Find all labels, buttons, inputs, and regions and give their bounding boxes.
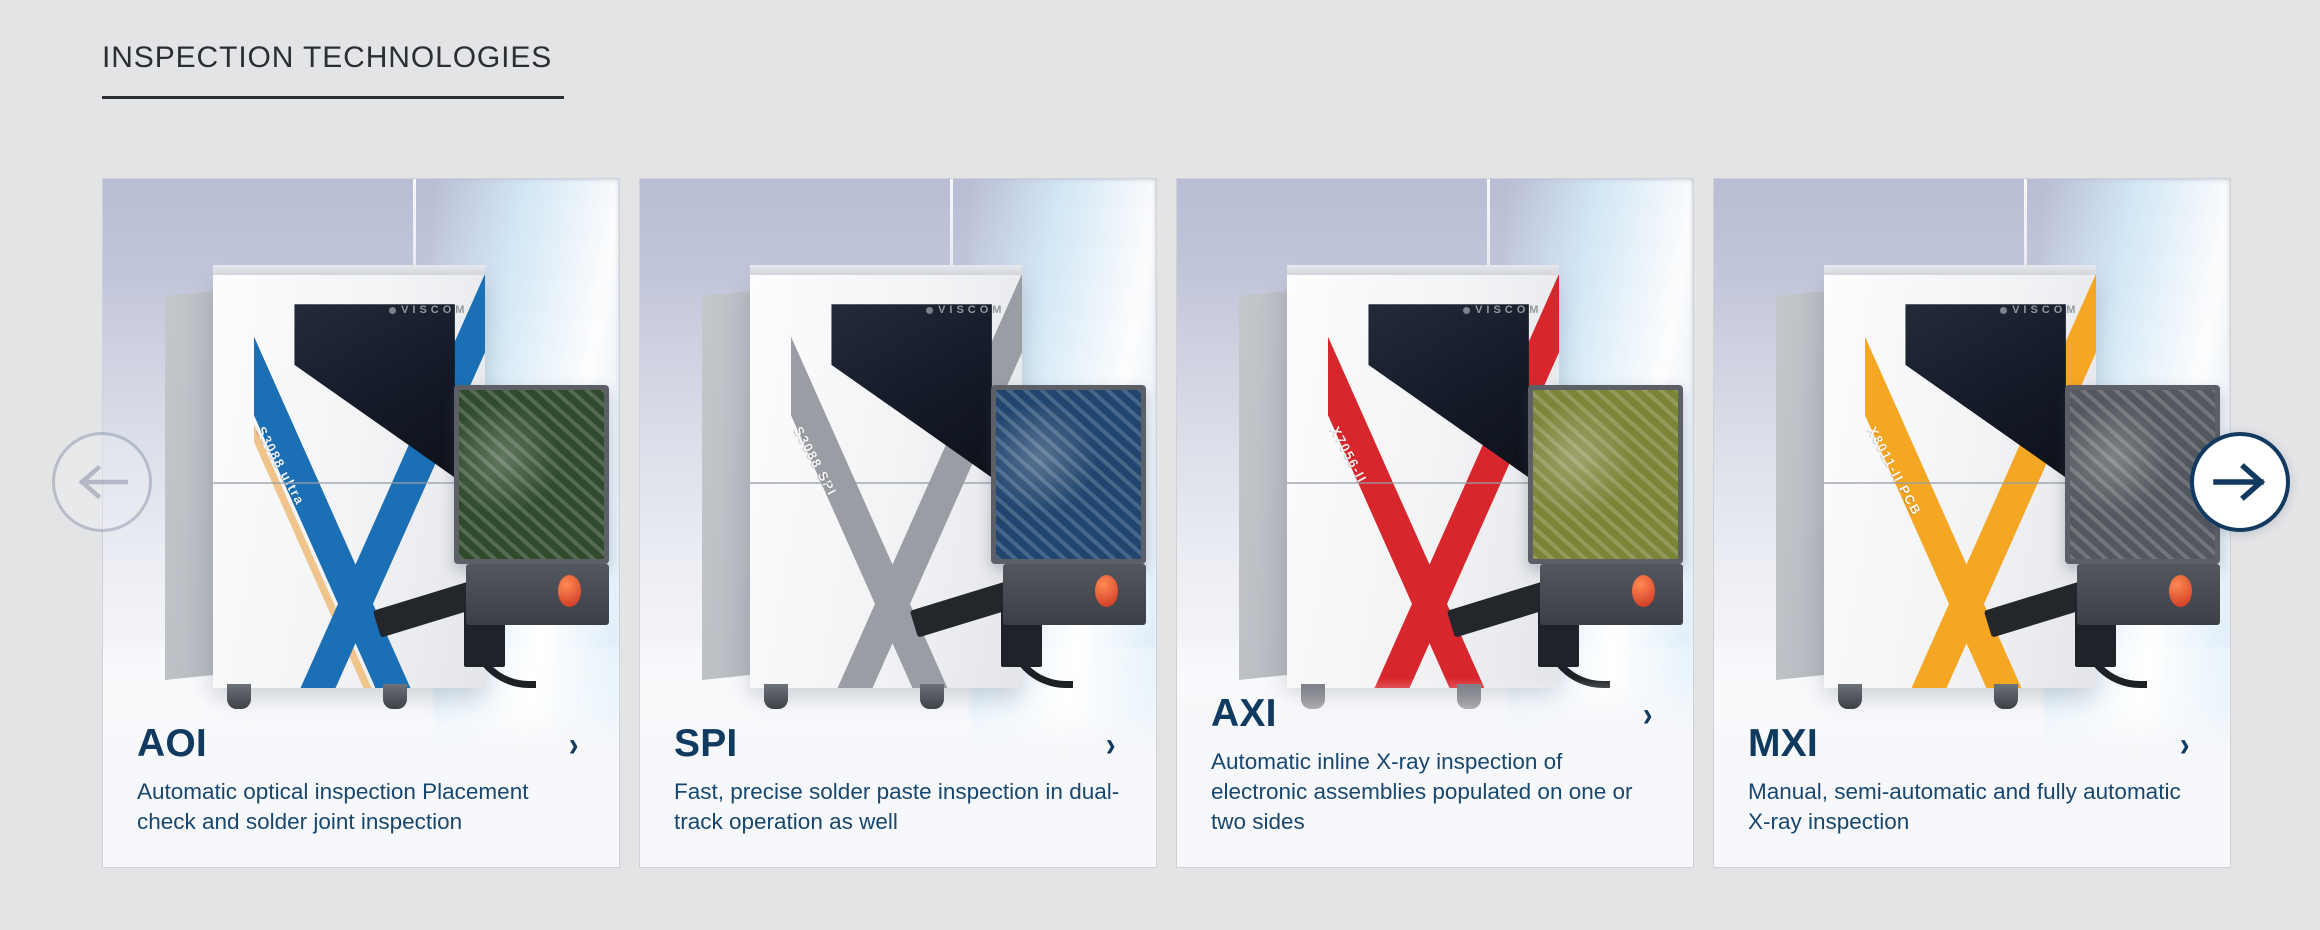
product-card-aoi[interactable]: VISCOM S3088 ultra (102, 178, 620, 868)
card-title: AOI (137, 724, 207, 765)
machine-body: VISCOM S3088 SPI (702, 275, 1022, 688)
card-description: Manual, semi-automatic and fully automat… (1748, 777, 2196, 837)
title-underline (102, 96, 564, 99)
card-header: AXI › (1211, 678, 1659, 735)
card-title: AXI (1211, 694, 1277, 735)
product-card-mxi[interactable]: VISCOM X8011-II PCB (1713, 178, 2231, 868)
machine-body: VISCOM S3088 ultra (165, 275, 485, 688)
carousel-next-button[interactable] (2190, 432, 2290, 532)
machine-brand: VISCOM (1463, 304, 1542, 316)
product-card-spi[interactable]: VISCOM S3088 SPI (639, 178, 1157, 868)
chevron-right-icon[interactable]: › (569, 728, 579, 762)
emergency-stop-icon (2169, 575, 2192, 607)
card-text-block: AXI › Automatic inline X-ray inspection … (1177, 678, 1693, 867)
card-header: AOI › (137, 708, 585, 765)
machine-brand: VISCOM (389, 304, 468, 316)
emergency-stop-icon (1632, 575, 1655, 607)
operator-monitor (454, 385, 609, 564)
card-description: Automatic optical inspection Placement c… (137, 777, 585, 837)
arrow-right-icon (2213, 461, 2267, 503)
arrow-left-icon (76, 462, 128, 502)
card-text-block: AOI › Automatic optical inspection Place… (103, 708, 619, 867)
machine-body: VISCOM X8011-II PCB (1776, 275, 2096, 688)
machine-brand: VISCOM (2000, 304, 2079, 316)
chevron-right-icon[interactable]: › (1643, 698, 1653, 732)
product-carousel: VISCOM S3088 ultra (0, 178, 2320, 870)
card-title: SPI (674, 724, 737, 765)
emergency-stop-icon (558, 575, 581, 607)
chevron-right-icon[interactable]: › (2180, 728, 2190, 762)
card-title: MXI (1748, 724, 1818, 765)
card-description: Automatic inline X-ray inspection of ele… (1211, 747, 1659, 837)
card-header: SPI › (674, 708, 1122, 765)
chevron-right-icon[interactable]: › (1106, 728, 1116, 762)
inspection-technologies-section: INSPECTION TECHNOLOGIES (0, 0, 2320, 930)
page-title: INSPECTION TECHNOLOGIES (102, 40, 564, 76)
machine-body: VISCOM X7056-II (1239, 275, 1559, 688)
operator-monitor (991, 385, 1146, 564)
section-header: INSPECTION TECHNOLOGIES (102, 40, 564, 99)
operator-monitor (1528, 385, 1683, 564)
product-card-axi[interactable]: VISCOM X7056-II (1176, 178, 1694, 868)
emergency-stop-icon (1095, 575, 1118, 607)
card-text-block: MXI › Manual, semi-automatic and fully a… (1714, 708, 2230, 867)
machine-brand: VISCOM (926, 304, 1005, 316)
card-header: MXI › (1748, 708, 2196, 765)
card-text-block: SPI › Fast, precise solder paste inspect… (640, 708, 1156, 867)
card-description: Fast, precise solder paste inspection in… (674, 777, 1122, 837)
carousel-prev-button[interactable] (52, 432, 152, 532)
carousel-track: VISCOM S3088 ultra (102, 178, 2231, 868)
